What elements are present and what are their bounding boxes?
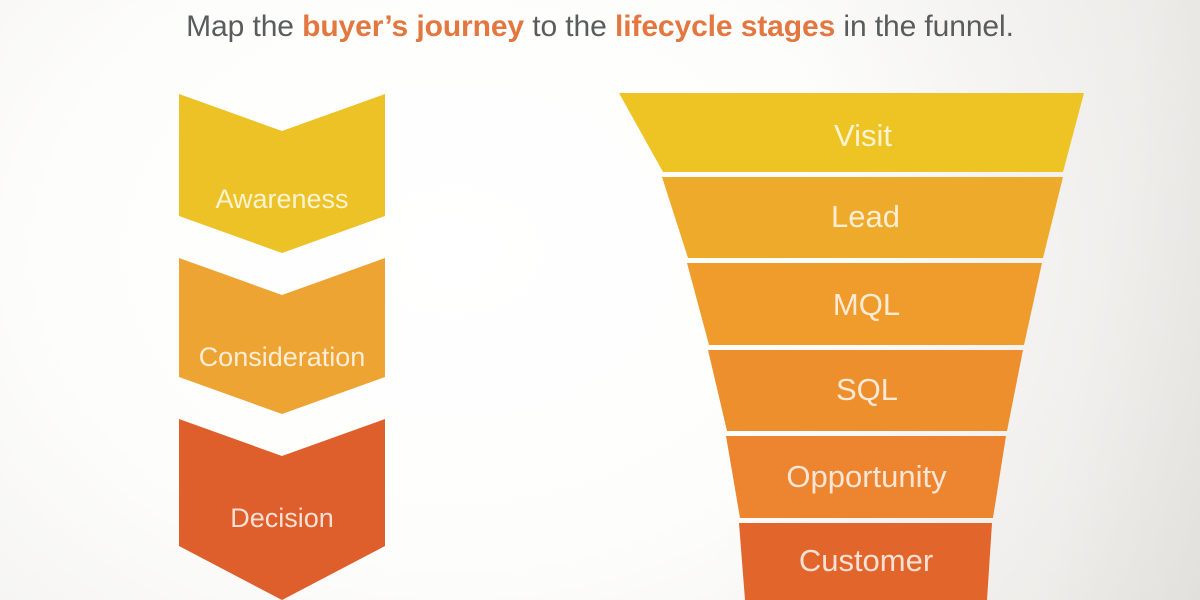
title-segment-3: in the funnel.: [835, 10, 1014, 43]
chevron-awareness[interactable]: [179, 94, 385, 253]
buyer-journey-chevron-stack: [179, 94, 385, 600]
page-title: Map the buyer’s journey to the lifecycle…: [0, 4, 1200, 50]
funnel-band-mql[interactable]: [687, 263, 1042, 345]
title-highlight-buyers-journey: buyer’s journey: [302, 10, 524, 43]
lifecycle-funnel: [619, 93, 1084, 600]
funnel-band-customer[interactable]: [739, 523, 992, 600]
diagram-artwork: [0, 0, 1200, 600]
funnel-band-sql[interactable]: [708, 350, 1023, 431]
funnel-band-lead[interactable]: [662, 177, 1063, 258]
chevron-decision[interactable]: [179, 419, 385, 600]
title-highlight-lifecycle-stages: lifecycle stages: [615, 10, 835, 43]
chevron-consideration[interactable]: [179, 258, 385, 414]
title-segment-1: Map the: [186, 10, 302, 43]
funnel-band-opportunity[interactable]: [726, 436, 1006, 518]
funnel-band-visit[interactable]: [619, 93, 1084, 172]
slide-canvas: Map the buyer’s journey to the lifecycle…: [0, 0, 1200, 600]
title-segment-2: to the: [524, 10, 615, 43]
